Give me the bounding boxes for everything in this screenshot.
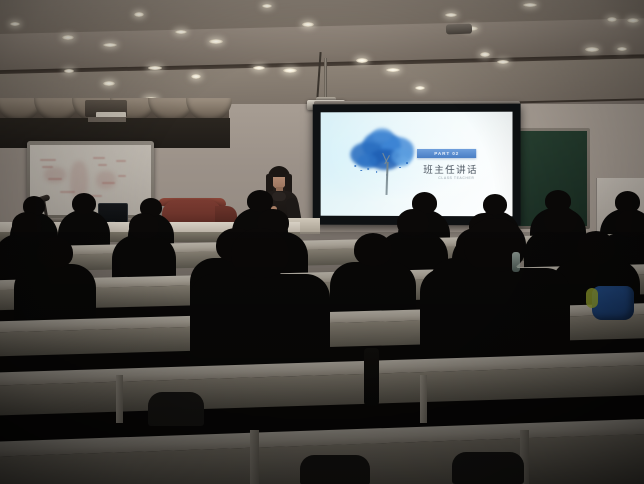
slide-part-badge: PART 02 (417, 149, 477, 158)
chair-back (300, 455, 370, 484)
audience-member-head (397, 209, 429, 236)
audience-member (190, 274, 330, 374)
desk-leg (116, 375, 123, 423)
downlight-icon (253, 66, 265, 70)
downlight-icon (480, 52, 490, 57)
wall-bracket (88, 117, 126, 122)
backpack-icon (592, 286, 634, 320)
downlight-icon (103, 43, 117, 47)
slide-part-label: PART 02 (434, 151, 459, 156)
audience-member-head (354, 233, 392, 266)
downlight-icon (523, 3, 537, 7)
ceiling-speaker-icon (446, 24, 472, 35)
flask-icon (364, 348, 379, 406)
audience-member-head (231, 228, 289, 278)
downlight-icon (209, 39, 223, 44)
lecture-hall-photo: PART 02 班主任讲话 CLASS TEACHER (0, 0, 644, 484)
downlight-icon (356, 58, 368, 63)
chair-back (148, 392, 204, 426)
audience-member (14, 264, 96, 324)
audience-member-head (72, 193, 96, 214)
audience-member-head (544, 206, 577, 234)
audience-member-head (483, 194, 507, 215)
audience-member-head (577, 231, 615, 264)
audience-member-head (12, 212, 42, 238)
downlight-icon (617, 47, 627, 51)
chair-back (452, 452, 524, 484)
downlight-icon (262, 4, 272, 8)
water-bottle-icon (512, 252, 520, 272)
downlight-icon (64, 69, 74, 73)
downlight-icon (134, 12, 144, 17)
downlight-icon (10, 22, 20, 26)
downlight-icon (585, 47, 599, 52)
downlight-icon (627, 18, 639, 23)
projector-mount-pole (324, 58, 327, 100)
downlight-icon (607, 17, 617, 22)
downlight-icon (386, 68, 400, 72)
audience-member-head (129, 213, 159, 239)
downlight-icon (191, 74, 201, 79)
audience-member-head (615, 210, 644, 237)
downlight-icon (62, 35, 74, 40)
backpack-strap (586, 288, 598, 308)
slide-subtitle: CLASS TEACHER (431, 176, 481, 180)
downlight-icon (103, 81, 115, 86)
desk-leg (420, 375, 427, 423)
slide-title: 班主任讲话 (416, 162, 485, 176)
downlight-icon (302, 22, 314, 27)
desk-leg (250, 430, 259, 484)
audience-member-head (37, 237, 73, 268)
downlight-icon (445, 13, 457, 17)
